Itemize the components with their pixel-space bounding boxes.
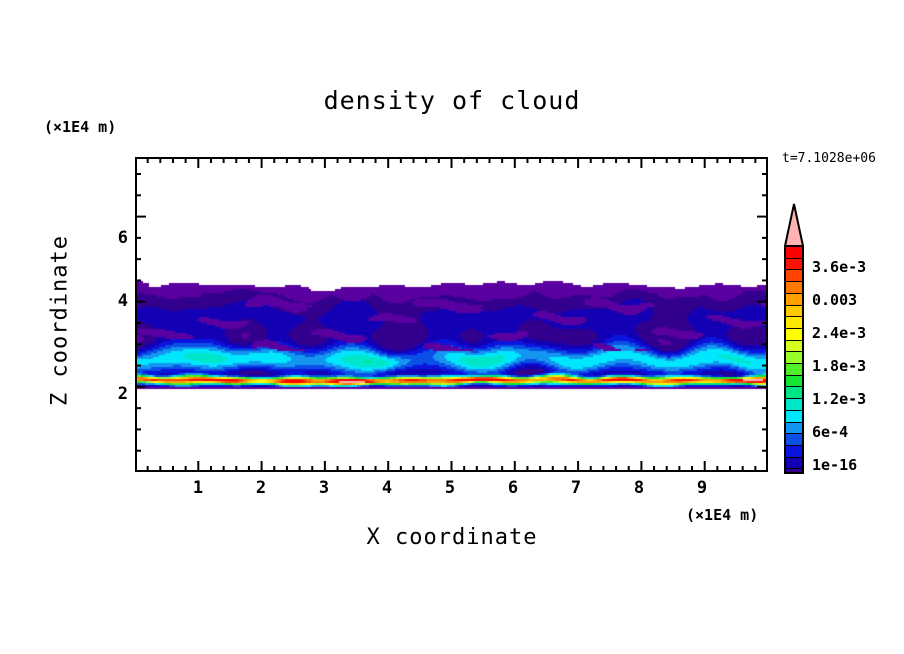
colorbar-segment <box>786 446 802 458</box>
x-tick-4: 4 <box>375 478 399 498</box>
y-tick-6: 6 <box>104 228 128 248</box>
colorbar-label-6e-4: 6e-4 <box>812 423 848 441</box>
x-tick-1: 1 <box>186 478 210 498</box>
y-axis-title: Z coordinate <box>48 221 73 421</box>
colorbar-segment <box>786 317 802 329</box>
time-annotation: t=7.1028e+06 <box>782 151 876 166</box>
x-axis-unit-label: (×1E4 m) <box>686 506 758 524</box>
colorbar-segment <box>786 247 802 259</box>
colorbar-segment <box>786 270 802 282</box>
colorbar-segment <box>786 259 802 271</box>
colorbar-segment <box>786 282 802 294</box>
y-axis-unit-label: (×1E4 m) <box>44 118 116 136</box>
colorbar-label-2.4e-3: 2.4e-3 <box>812 324 866 342</box>
colorbar-label-3.6e-3: 3.6e-3 <box>812 258 866 276</box>
y-tick-2: 2 <box>104 384 128 404</box>
x-tick-8: 8 <box>627 478 651 498</box>
colorbar-segment <box>786 434 802 446</box>
x-tick-2: 2 <box>249 478 273 498</box>
x-tick-5: 5 <box>438 478 462 498</box>
page-title: density of cloud <box>0 86 904 115</box>
colorbar-segment <box>786 376 802 388</box>
colorbar-segment <box>786 411 802 423</box>
x-axis-title: X coordinate <box>0 525 904 550</box>
colorbar-segment <box>786 469 802 474</box>
x-tick-7: 7 <box>564 478 588 498</box>
plot-area <box>135 157 768 472</box>
colorbar <box>784 245 804 474</box>
x-tick-6: 6 <box>501 478 525 498</box>
y-tick-4: 4 <box>104 291 128 311</box>
colorbar-segment <box>786 387 802 399</box>
x-tick-3: 3 <box>312 478 336 498</box>
colorbar-segment <box>786 458 802 470</box>
contour-heatmap <box>137 159 766 470</box>
colorbar-segment <box>786 294 802 306</box>
colorbar-segment <box>786 399 802 411</box>
colorbar-label-1.2e-3: 1.2e-3 <box>812 390 866 408</box>
colorbar-segment <box>786 352 802 364</box>
colorbar-label-1.8e-3: 1.8e-3 <box>812 357 866 375</box>
colorbar-segment <box>786 341 802 353</box>
x-tick-9: 9 <box>690 478 714 498</box>
colorbar-segment <box>786 364 802 376</box>
colorbar-label-0.003: 0.003 <box>812 291 857 309</box>
colorbar-segment <box>786 306 802 318</box>
colorbar-segment <box>786 329 802 341</box>
figure-canvas: density of cloud (×1E4 m) t=7.1028e+06 1… <box>0 0 904 654</box>
colorbar-segment <box>786 423 802 435</box>
colorbar-label-1e-16: 1e-16 <box>812 456 857 474</box>
colorbar-arrow-icon <box>784 203 804 247</box>
